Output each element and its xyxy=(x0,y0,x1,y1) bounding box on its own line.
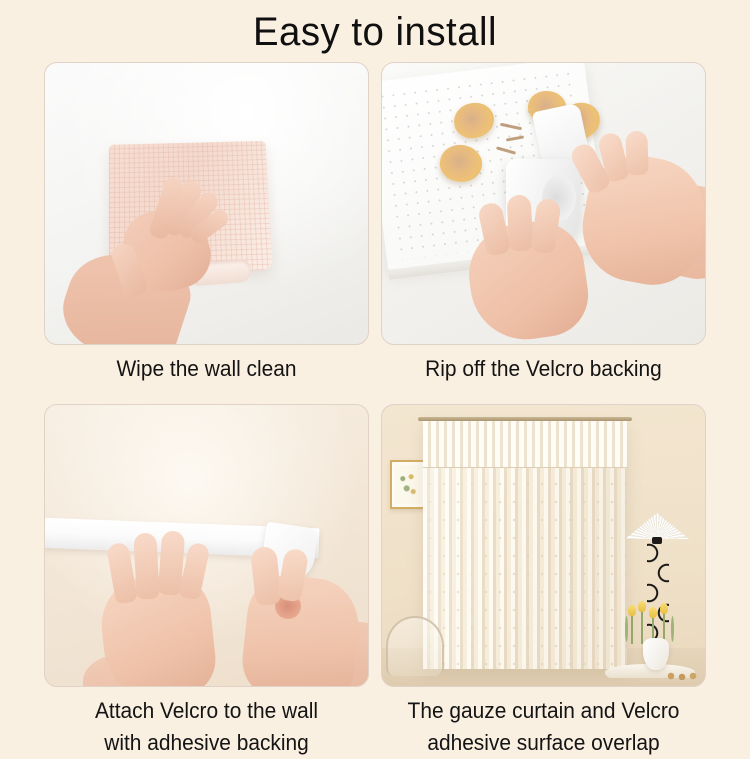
caption-line: Attach Velcro to the wall xyxy=(52,695,361,727)
infographic-page: Easy to install Wipe the wall clean xyxy=(0,0,750,750)
hands-pressing-velcro-strip-on-wall-photo xyxy=(44,404,369,687)
caption-line: with adhesive backing xyxy=(52,727,361,759)
finger xyxy=(507,194,534,251)
tulip-bud xyxy=(660,603,668,614)
caption-line: Wipe the wall clean xyxy=(52,353,361,385)
caption-line: adhesive surface overlap xyxy=(389,727,698,759)
chair xyxy=(386,616,444,676)
decorative-nuts xyxy=(665,672,699,680)
lamp-shade xyxy=(625,513,689,539)
step-card-4: The gauze curtain and Velcro adhesive su… xyxy=(381,404,706,759)
step-card-1: Wipe the wall clean xyxy=(44,62,369,385)
caption-line: Rip off the Velcro backing xyxy=(389,353,698,385)
right-hand xyxy=(568,127,706,307)
tulip-bud xyxy=(649,607,657,618)
tulip-bud xyxy=(638,601,646,612)
step-card-2: Rip off the Velcro backing xyxy=(381,62,706,385)
gauze-curtain xyxy=(423,421,627,669)
leaf xyxy=(671,616,674,642)
finger xyxy=(625,131,649,176)
installed-gauze-curtain-room-photo xyxy=(381,404,706,687)
steps-grid: Wipe the wall clean xyxy=(44,62,706,702)
caption-line: The gauze curtain and Velcro xyxy=(389,695,698,727)
step-caption-4: The gauze curtain and Velcro adhesive su… xyxy=(389,695,698,759)
leaf xyxy=(625,616,628,642)
hand xyxy=(97,181,229,345)
stem xyxy=(641,610,643,644)
finger xyxy=(133,532,159,599)
thumb xyxy=(250,546,282,606)
tulip-bud xyxy=(628,605,636,616)
step-caption-2: Rip off the Velcro backing xyxy=(389,353,698,385)
hands-peeling-velcro-tape-roll-photo xyxy=(381,62,706,345)
curtain-valance xyxy=(423,421,627,468)
right-hand xyxy=(223,533,369,687)
step-card-3: Attach Velcro to the wall with adhesive … xyxy=(44,404,369,759)
step-caption-3: Attach Velcro to the wall with adhesive … xyxy=(52,695,361,759)
artwork xyxy=(395,465,421,504)
step-caption-1: Wipe the wall clean xyxy=(52,353,361,385)
stem xyxy=(631,614,633,644)
hand-wiping-wall-with-pink-cloth-photo xyxy=(44,62,369,345)
framed-botanical-print xyxy=(390,460,426,509)
page-title: Easy to install xyxy=(15,8,735,56)
